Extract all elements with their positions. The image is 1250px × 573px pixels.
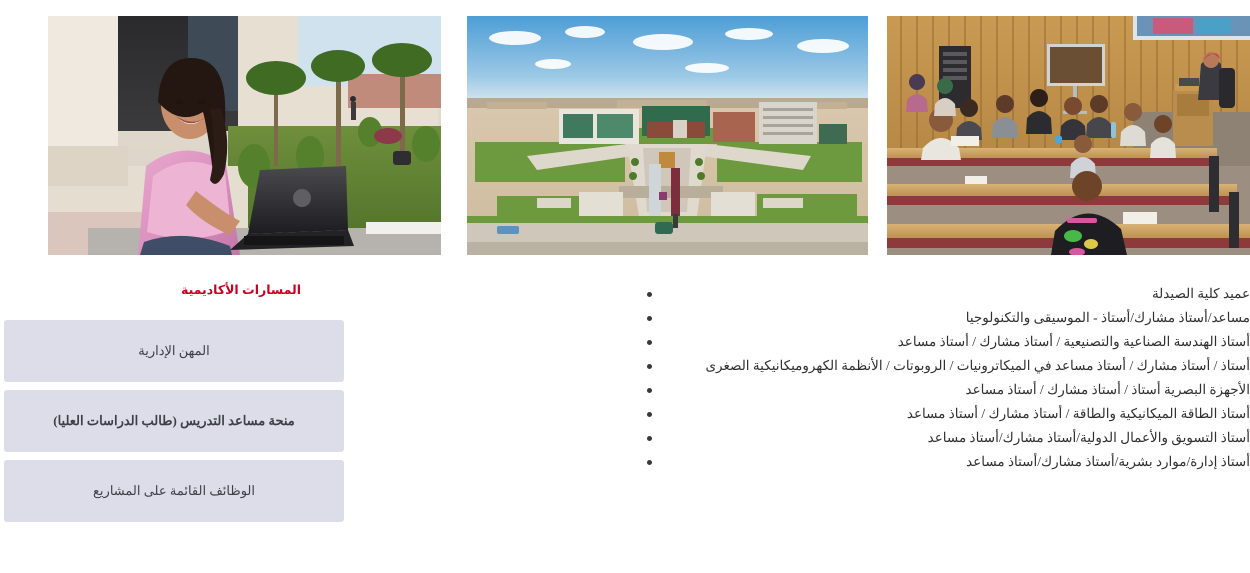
bullet-icon	[647, 316, 652, 321]
page-root: المسارات الأكاديمية المهن الإدارية منحة …	[0, 0, 1250, 573]
list-item: أستاذ التسويق والأعمال الدولية/أستاذ مشا…	[360, 426, 1250, 450]
track-button-project-based-jobs[interactable]: الوظائف القائمة على المشاريع	[4, 460, 344, 522]
list-item: مساعد/أستاذ مشارك/أستاذ - الموسيقى والتك…	[360, 306, 1250, 330]
track-button-teaching-assistant-scholarship[interactable]: منحة مساعد التدريس (طالب الدراسات العليا…	[4, 390, 344, 452]
list-item: عميد كلية الصيدلة	[360, 282, 1250, 306]
position-label: الأجهزة البصرية أستاذ / أستاذ مشارك / أس…	[966, 378, 1250, 402]
bullet-icon	[647, 388, 652, 393]
list-item: الأجهزة البصرية أستاذ / أستاذ مشارك / أس…	[360, 378, 1250, 402]
position-label: أستاذ / أستاذ مشارك / أستاذ مساعد في الم…	[705, 354, 1250, 378]
position-label: أستاذ الطاقة الميكانيكية والطاقة / أستاذ…	[907, 402, 1250, 426]
list-item: أستاذ / أستاذ مشارك / أستاذ مساعد في الم…	[360, 354, 1250, 378]
bullet-icon	[647, 340, 652, 345]
content-area: المسارات الأكاديمية المهن الإدارية منحة …	[0, 240, 1250, 573]
bullet-icon	[647, 364, 652, 369]
position-label: مساعد/أستاذ مشارك/أستاذ - الموسيقى والتك…	[966, 306, 1250, 330]
list-item: أستاذ الطاقة الميكانيكية والطاقة / أستاذ…	[360, 402, 1250, 426]
list-item: أستاذ إدارة/موارد بشرية/أستاذ مشارك/أستا…	[360, 450, 1250, 474]
bullet-icon	[647, 436, 652, 441]
open-positions-panel: عميد كلية الصيدلة مساعد/أستاذ مشارك/أستا…	[360, 240, 1250, 474]
position-label: أستاذ إدارة/موارد بشرية/أستاذ مشارك/أستا…	[966, 450, 1250, 474]
open-positions-list: عميد كلية الصيدلة مساعد/أستاذ مشارك/أستا…	[360, 282, 1250, 474]
track-button-administrative-careers[interactable]: المهن الإدارية	[4, 320, 344, 382]
bullet-icon	[647, 412, 652, 417]
position-label: أستاذ التسويق والأعمال الدولية/أستاذ مشا…	[928, 426, 1250, 450]
bullet-icon	[647, 460, 652, 465]
academic-tracks-list: المهن الإدارية منحة مساعد التدريس (طالب …	[0, 320, 352, 522]
lecture-hall-photo	[887, 16, 1250, 255]
campus-aerial-photo	[467, 16, 868, 255]
student-with-laptop-photo	[48, 16, 441, 255]
list-item: أستاذ الهندسة الصناعية والتصنيعية / أستا…	[360, 330, 1250, 354]
hero-image-strip	[0, 0, 1250, 240]
academic-tracks-panel: المسارات الأكاديمية المهن الإدارية منحة …	[0, 240, 352, 530]
bullet-icon	[647, 292, 652, 297]
academic-tracks-heading: المسارات الأكاديمية	[0, 283, 352, 298]
position-label: أستاذ الهندسة الصناعية والتصنيعية / أستا…	[898, 330, 1250, 354]
position-label: عميد كلية الصيدلة	[1152, 282, 1250, 306]
